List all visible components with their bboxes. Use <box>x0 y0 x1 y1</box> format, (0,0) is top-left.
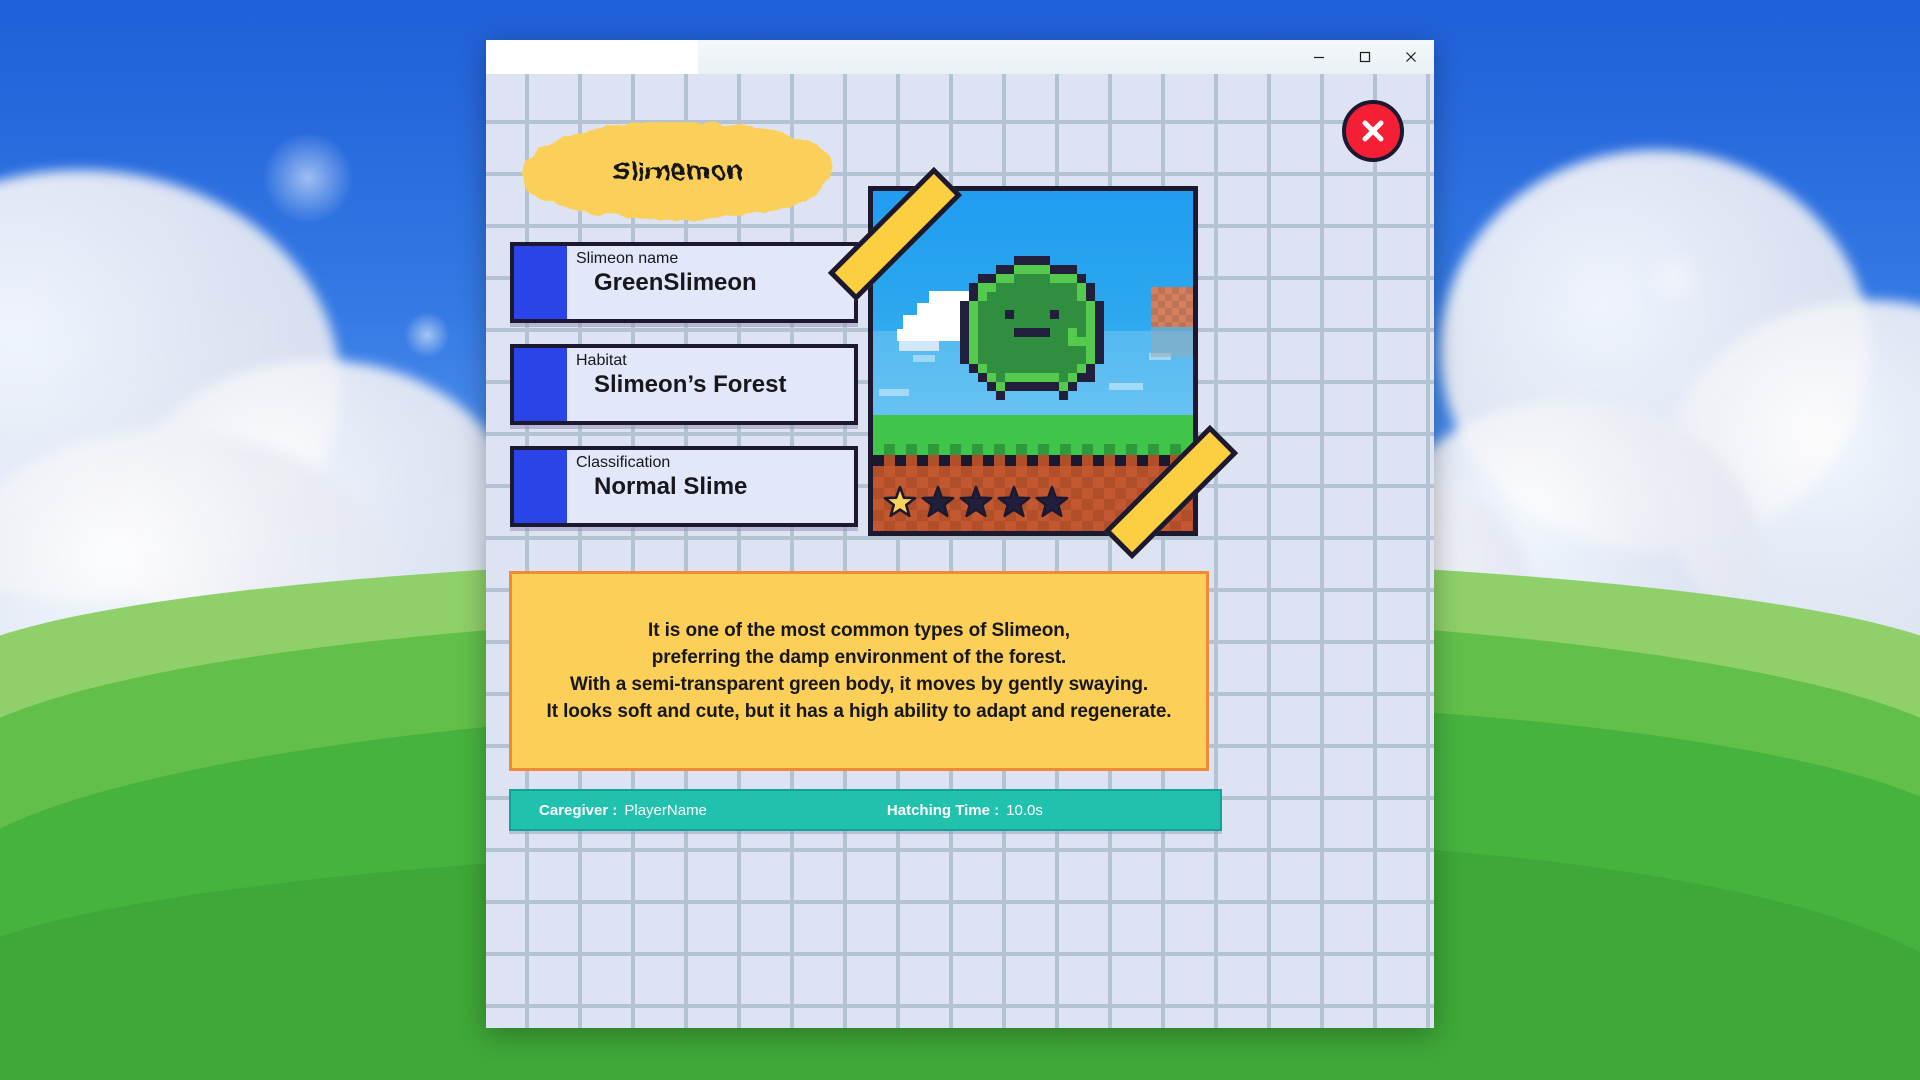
field-slimeon-name: Slimeon name GreenSlimeon <box>510 242 858 323</box>
sprite-pixel <box>1014 310 1023 319</box>
sprite-pixel <box>1032 256 1041 265</box>
sprite-pixel <box>1005 346 1014 355</box>
field-body: Habitat Slimeon’s Forest <box>567 348 854 421</box>
sprite-pixel <box>987 310 996 319</box>
sprite-pixel <box>1023 265 1032 274</box>
dirt-tooth <box>1137 455 1148 466</box>
sprite-pixel <box>960 301 969 310</box>
sprite-pixel <box>1005 301 1014 310</box>
pixel-cloud-shade <box>899 341 939 351</box>
sprite-pixel <box>1077 337 1086 346</box>
sprite-pixel <box>1068 319 1077 328</box>
sprite-pixel <box>996 391 1005 400</box>
sprite-pixel <box>1059 265 1068 274</box>
sprite-pixel <box>1068 283 1077 292</box>
sprite-pixel <box>1059 310 1068 319</box>
sprite-pixel <box>1014 292 1023 301</box>
sprite-pixel <box>1086 364 1095 373</box>
maximize-icon <box>1358 50 1372 64</box>
sprite-pixel <box>1059 346 1068 355</box>
sprite-pixel <box>1014 328 1023 337</box>
sprite-pixel <box>1086 328 1095 337</box>
sprite-pixel <box>969 301 978 310</box>
sprite-pixel <box>987 355 996 364</box>
sprite-pixel <box>1014 373 1023 382</box>
sprite-pixel <box>987 328 996 337</box>
sprite-pixel <box>1077 364 1086 373</box>
star-empty-icon <box>920 485 956 521</box>
grass-tooth <box>1148 444 1159 455</box>
sprite-pixel <box>1077 319 1086 328</box>
sprite-pixel <box>960 337 969 346</box>
sprite-pixel <box>1014 337 1023 346</box>
sprite-pixel <box>1095 301 1104 310</box>
sprite-pixel <box>978 373 987 382</box>
sprite-pixel <box>1059 274 1068 283</box>
sprite-pixel <box>969 328 978 337</box>
sprite-pixel <box>1068 292 1077 301</box>
sprite-pixel <box>987 319 996 328</box>
sprite-pixel <box>960 328 969 337</box>
sprite-pixel <box>978 310 987 319</box>
card-close-button[interactable] <box>1342 100 1404 162</box>
sprite-pixel <box>978 319 987 328</box>
sprite-pixel <box>978 355 987 364</box>
sprite-pixel <box>1023 355 1032 364</box>
sprite-pixel <box>1005 382 1014 391</box>
sprite-pixel <box>1068 301 1077 310</box>
sprite-pixel <box>1059 328 1068 337</box>
sprite-pixel <box>1023 274 1032 283</box>
sprite-pixel <box>1077 355 1086 364</box>
sprite-pixel <box>1032 292 1041 301</box>
sprite-pixel <box>1050 355 1059 364</box>
sprite-pixel <box>1023 256 1032 265</box>
sprite-pixel <box>1041 382 1050 391</box>
sprite-pixel <box>996 346 1005 355</box>
sprite-pixel <box>1086 346 1095 355</box>
sprite-pixel <box>1041 292 1050 301</box>
sprite-pixel <box>1005 337 1014 346</box>
sprite-pixel <box>1050 382 1059 391</box>
grass-tooth <box>1038 444 1049 455</box>
sprite-pixel <box>987 373 996 382</box>
field-label: Habitat <box>576 352 846 370</box>
sprite-pixel <box>1014 283 1023 292</box>
hatching-time-value: 10.0s <box>1006 802 1043 819</box>
dirt-tooth <box>1005 455 1016 466</box>
sprite-pixel <box>1032 346 1041 355</box>
sprite-pixel <box>1059 382 1068 391</box>
sprite-pixel <box>1095 337 1104 346</box>
sprite-pixel <box>1032 328 1041 337</box>
info-field-list: Slimeon name GreenSlimeon Habitat Slimeo… <box>510 242 858 527</box>
dirt-tooth <box>1093 455 1104 466</box>
sprite-pixel <box>1005 274 1014 283</box>
minimize-icon <box>1312 50 1326 64</box>
sprite-pixel <box>1014 364 1023 373</box>
minimize-button[interactable] <box>1296 40 1342 74</box>
sprite-pixel <box>1032 319 1041 328</box>
sprite-pixel <box>1014 346 1023 355</box>
scene-grass <box>873 415 1193 455</box>
caregiver-value: PlayerName <box>624 802 707 819</box>
water-dash <box>1109 383 1143 390</box>
sprite-pixel <box>1059 337 1068 346</box>
field-habitat: Habitat Slimeon’s Forest <box>510 344 858 425</box>
sprite-pixel <box>996 337 1005 346</box>
sprite-pixel <box>1023 319 1032 328</box>
sprite-pixel <box>1050 292 1059 301</box>
field-label: Classification <box>576 454 846 472</box>
dirt-tooth <box>961 455 972 466</box>
dirt-tooth <box>1071 455 1082 466</box>
card-title-blob: Slimemon <box>522 122 834 220</box>
maximize-button[interactable] <box>1342 40 1388 74</box>
sprite-pixel <box>1041 265 1050 274</box>
sprite-pixel <box>1041 283 1050 292</box>
sprite-pixel <box>1005 364 1014 373</box>
window-titlebar[interactable] <box>486 40 1434 74</box>
field-classification: Classification Normal Slime <box>510 446 858 527</box>
sprite-pixel <box>1050 310 1059 319</box>
sprite-pixel <box>1005 283 1014 292</box>
star-empty-icon <box>1034 485 1070 521</box>
sprite-pixel <box>1059 364 1068 373</box>
grass-tooth <box>950 444 961 455</box>
sprite-pixel <box>1032 337 1041 346</box>
sprite-pixel <box>1005 292 1014 301</box>
sprite-pixel <box>1023 382 1032 391</box>
sprite-pixel <box>1095 355 1104 364</box>
sprite-pixel <box>1023 346 1032 355</box>
sprite-pixel <box>1050 265 1059 274</box>
sprite-pixel <box>1077 274 1086 283</box>
sprite-pixel <box>996 283 1005 292</box>
sprite-pixel <box>1068 364 1077 373</box>
sprite-pixel <box>1023 283 1032 292</box>
desktop-wallpaper: Slimemon Slimeon name GreenSlimeon Habit… <box>0 0 1920 1080</box>
dirt-tooth <box>1049 455 1060 466</box>
browser-tab[interactable] <box>486 40 698 74</box>
sprite-pixel <box>960 310 969 319</box>
sprite-pixel <box>987 346 996 355</box>
sprite-pixel <box>1059 391 1068 400</box>
sprite-pixel <box>1059 319 1068 328</box>
grass-tooth <box>906 444 917 455</box>
sprite-pixel <box>1032 382 1041 391</box>
sprite-pixel <box>1014 274 1023 283</box>
sprite-pixel <box>987 283 996 292</box>
sprite-pixel <box>996 328 1005 337</box>
sprite-pixel <box>1041 256 1050 265</box>
star-empty-icon <box>958 485 994 521</box>
sprite-pixel <box>1023 301 1032 310</box>
sprite-pixel <box>1050 301 1059 310</box>
sprite-pixel <box>1041 274 1050 283</box>
sprite-pixel <box>996 373 1005 382</box>
sprite-pixel <box>1077 373 1086 382</box>
sprite-pixel <box>1095 310 1104 319</box>
sprite-pixel <box>1077 310 1086 319</box>
close-x-icon <box>1356 114 1390 148</box>
sprite-pixel <box>1032 265 1041 274</box>
sprite-pixel <box>1050 328 1059 337</box>
sprite-pixel <box>969 283 978 292</box>
sprite-pixel <box>987 301 996 310</box>
bokeh-dot <box>404 312 450 358</box>
water-dash <box>879 389 909 396</box>
sprite-pixel <box>1068 382 1077 391</box>
sprite-pixel <box>1077 301 1086 310</box>
description-line: It looks soft and cute, but it has a hig… <box>547 701 1172 723</box>
sprite-pixel <box>978 283 987 292</box>
field-accent-tab <box>514 246 567 319</box>
sprite-pixel <box>960 355 969 364</box>
sprite-pixel <box>1050 346 1059 355</box>
sprite-pixel <box>1032 301 1041 310</box>
sprite-pixel <box>1050 373 1059 382</box>
dirt-tooth <box>873 455 884 466</box>
sprite-pixel <box>1014 319 1023 328</box>
sprite-pixel <box>987 337 996 346</box>
sprite-pixel <box>1086 319 1095 328</box>
sprite-pixel <box>1095 346 1104 355</box>
sprite-pixel <box>1041 328 1050 337</box>
sprite-pixel <box>1077 283 1086 292</box>
grass-tooth <box>928 444 939 455</box>
sprite-pixel <box>996 355 1005 364</box>
sprite-pixel <box>996 364 1005 373</box>
field-value: GreenSlimeon <box>576 269 846 297</box>
sprite-pixel <box>1032 283 1041 292</box>
sprite-pixel <box>1005 265 1014 274</box>
dirt-tooth <box>983 455 994 466</box>
field-label: Slimeon name <box>576 250 846 268</box>
sprite-pixel <box>1086 301 1095 310</box>
description-line: preferring the damp environment of the f… <box>652 647 1067 669</box>
dirt-tooth <box>895 455 906 466</box>
star-empty-icon <box>996 485 1032 521</box>
dirt-tooth <box>1115 455 1126 466</box>
sprite-pixel <box>1068 346 1077 355</box>
grass-tooth <box>1016 444 1027 455</box>
sprite-pixel <box>1023 373 1032 382</box>
sprite-pixel <box>1041 346 1050 355</box>
field-accent-tab <box>514 348 567 421</box>
grass-tooth <box>1082 444 1093 455</box>
sprite-pixel <box>978 328 987 337</box>
water-dash <box>913 355 935 362</box>
sprite-pixel <box>1041 319 1050 328</box>
sprite-pixel <box>1050 337 1059 346</box>
sprite-pixel <box>1068 274 1077 283</box>
grass-tooth <box>1126 444 1137 455</box>
sprite-pixel <box>978 337 987 346</box>
sprite-pixel <box>1023 364 1032 373</box>
description-line: With a semi-transparent green body, it m… <box>570 674 1148 696</box>
sprite-pixel <box>969 364 978 373</box>
dirt-tooth <box>939 455 950 466</box>
sprite-pixel <box>1023 328 1032 337</box>
grass-tooth <box>1104 444 1115 455</box>
application-window: Slimemon Slimeon name GreenSlimeon Habit… <box>486 40 1434 1028</box>
sprite-pixel <box>1023 310 1032 319</box>
sprite-pixel <box>1086 337 1095 346</box>
grass-tooth <box>994 444 1005 455</box>
sprite-pixel <box>1014 256 1023 265</box>
sprite-pixel <box>1068 265 1077 274</box>
sprite-pixel <box>1041 301 1050 310</box>
hatching-time-label: Hatching Time : <box>887 802 999 819</box>
sprite-pixel <box>969 337 978 346</box>
sprite-pixel <box>1059 373 1068 382</box>
card-page: Slimemon Slimeon name GreenSlimeon Habit… <box>486 74 1434 1028</box>
sprite-pixel <box>1032 310 1041 319</box>
sprite-pixel <box>1086 310 1095 319</box>
caregiver-label: Caregiver : <box>539 802 617 819</box>
field-accent-tab <box>514 450 567 523</box>
sprite-pixel <box>969 310 978 319</box>
caregiver-group: Caregiver : PlayerName <box>539 802 707 819</box>
sprite-pixel <box>969 292 978 301</box>
sprite-pixel <box>1014 355 1023 364</box>
sprite-pixel <box>996 319 1005 328</box>
sprite-pixel <box>1068 337 1077 346</box>
sprite-pixel <box>1041 355 1050 364</box>
sprite-pixel <box>978 346 987 355</box>
sprite-pixel <box>978 364 987 373</box>
field-value: Slimeon’s Forest <box>576 371 846 399</box>
sprite-pixel <box>1032 355 1041 364</box>
sprite-pixel <box>1023 292 1032 301</box>
sprite-pixel <box>1005 319 1014 328</box>
sprite-pixel <box>1005 373 1014 382</box>
sprite-pixel <box>1059 292 1068 301</box>
sprite-pixel <box>960 346 969 355</box>
sprite-pixel <box>969 319 978 328</box>
status-footer-bar: Caregiver : PlayerName Hatching Time : 1… <box>509 789 1222 831</box>
sprite-pixel <box>1077 292 1086 301</box>
sprite-pixel <box>1068 355 1077 364</box>
close-icon <box>1404 50 1418 64</box>
grass-tooth <box>1060 444 1071 455</box>
sprite-pixel <box>1068 328 1077 337</box>
sprite-pixel <box>1059 283 1068 292</box>
sprite-pixel <box>996 274 1005 283</box>
distant-block-shadow <box>1151 327 1193 357</box>
sprite-pixel <box>1086 292 1095 301</box>
dirt-tooth <box>917 455 928 466</box>
sprite-pixel <box>1050 364 1059 373</box>
rating-stars <box>882 485 1070 521</box>
sprite-pixel <box>1005 355 1014 364</box>
sprite-pixel <box>1041 310 1050 319</box>
sprite-pixel <box>1095 319 1104 328</box>
bokeh-dot <box>262 132 354 224</box>
description-panel: It is one of the most common types of Sl… <box>509 571 1209 771</box>
sprite-pixel <box>1068 310 1077 319</box>
sprite-pixel <box>1059 301 1068 310</box>
sprite-pixel <box>978 292 987 301</box>
grass-tooth <box>972 444 983 455</box>
sprite-pixel <box>1050 283 1059 292</box>
field-body: Slimeon name GreenSlimeon <box>567 246 854 319</box>
sprite-pixel <box>987 382 996 391</box>
field-value: Normal Slime <box>576 473 846 501</box>
sprite-pixel <box>969 355 978 364</box>
sprite-pixel <box>1077 328 1086 337</box>
sprite-pixel <box>1014 265 1023 274</box>
distant-block <box>1151 287 1193 327</box>
sprite-pixel <box>1032 274 1041 283</box>
sprite-pixel <box>1086 373 1095 382</box>
grass-tooth <box>884 444 895 455</box>
sprite-pixel <box>996 301 1005 310</box>
sprite-pixel <box>1032 364 1041 373</box>
sprite-pixel <box>996 265 1005 274</box>
grass-tooth <box>1170 444 1181 455</box>
sprite-pixel <box>1095 328 1104 337</box>
sprite-pixel <box>987 274 996 283</box>
titlebar-spacer <box>698 40 1296 74</box>
sprite-pixel <box>1068 373 1077 382</box>
sprite-pixel <box>996 382 1005 391</box>
hatching-time-group: Hatching Time : 10.0s <box>887 802 1043 819</box>
sprite-pixel <box>1041 373 1050 382</box>
description-line: It is one of the most common types of Sl… <box>648 620 1070 642</box>
sprite-pixel <box>1014 301 1023 310</box>
sprite-pixel <box>978 301 987 310</box>
sprite-pixel <box>1077 346 1086 355</box>
sprite-pixel <box>969 346 978 355</box>
sprite-pixel <box>1023 337 1032 346</box>
sprite-pixel <box>1041 364 1050 373</box>
field-body: Classification Normal Slime <box>567 450 854 523</box>
sprite-pixel <box>1014 382 1023 391</box>
sprite-pixel <box>1032 373 1041 382</box>
sprite-pixel <box>1059 355 1068 364</box>
sprite-pixel <box>1005 310 1014 319</box>
sprite-pixel <box>978 274 987 283</box>
sprite-pixel <box>1050 319 1059 328</box>
sprite-pixel <box>987 364 996 373</box>
dirt-tooth <box>1027 455 1038 466</box>
sprite-pixel <box>1050 274 1059 283</box>
star-filled-icon <box>882 485 918 521</box>
sprite-pixel <box>987 292 996 301</box>
sprite-pixel <box>960 319 969 328</box>
sprite-pixel <box>1005 328 1014 337</box>
sprite-pixel <box>996 310 1005 319</box>
dirt-tooth <box>1159 455 1170 466</box>
creature-photo <box>868 186 1198 536</box>
sprite-pixel <box>1041 337 1050 346</box>
sprite-pixel <box>1086 355 1095 364</box>
window-close-button[interactable] <box>1388 40 1434 74</box>
page-title: Slimemon <box>613 156 744 187</box>
sprite-pixel <box>996 292 1005 301</box>
sprite-pixel <box>1086 283 1095 292</box>
